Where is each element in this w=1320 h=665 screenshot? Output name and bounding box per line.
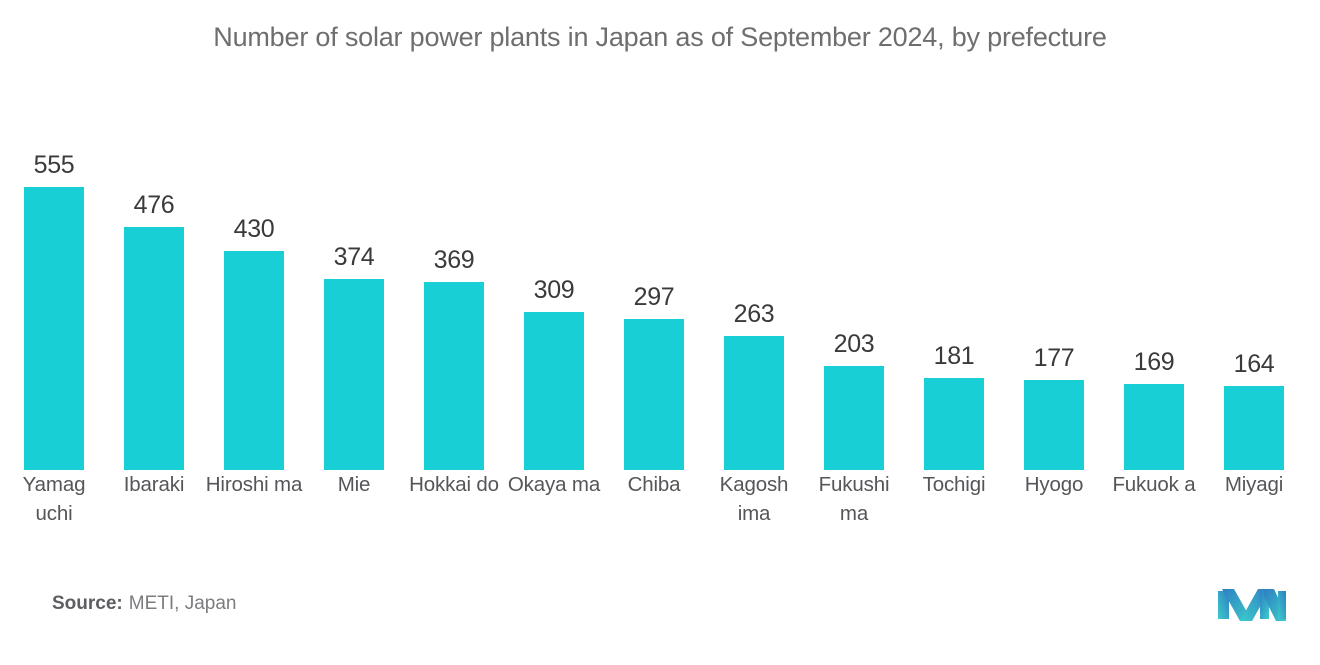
category-label: Miyagi [1202,470,1306,499]
category-label: Tochigi [902,470,1006,499]
bar-value-label: 164 [1234,352,1275,377]
category-label: Okaya ma [502,470,606,499]
bar-group: 374 [304,140,404,470]
bar-value-label: 555 [34,153,75,178]
category-axis: Yamag uchiIbarakiHiroshi maMieHokkai doO… [0,470,1320,540]
bar[interactable] [724,336,784,470]
bar-value-label: 476 [134,193,175,218]
bar-column: 169 [1124,140,1184,470]
bar-value-label: 203 [834,332,875,357]
bar[interactable] [824,366,884,470]
bar-value-label: 263 [734,302,775,327]
bar-column: 374 [324,140,384,470]
chart-figure: Number of solar power plants in Japan as… [0,0,1320,665]
source-label: Source: [52,593,123,614]
mordor-intelligence-logo [1216,585,1288,625]
bar-column: 309 [524,140,584,470]
bar-value-label: 181 [934,344,975,369]
bar-group: 181 [904,140,1004,470]
bar[interactable] [624,319,684,470]
source-line: Source:METI, Japan [52,593,236,615]
bar-column: 476 [124,140,184,470]
bar-group: 555 [4,140,104,470]
category-label: Hyogo [1002,470,1106,499]
bar[interactable] [424,282,484,470]
category-label: Hokkai do [402,470,506,499]
bar-group: 297 [604,140,704,470]
bar[interactable] [24,187,84,470]
bar-group: 164 [1204,140,1304,470]
bar-value-label: 309 [534,278,575,303]
bar[interactable] [324,279,384,470]
bar-column: 430 [224,140,284,470]
source-text: METI, Japan [129,593,237,614]
category-label: Mie [302,470,406,499]
bar[interactable] [524,312,584,470]
bar[interactable] [224,251,284,470]
bar-value-label: 369 [434,248,475,273]
bar-value-label: 430 [234,217,275,242]
category-label: Chiba [602,470,706,499]
chart-footer: Source:METI, Japan [0,575,1320,665]
category-label: Ibaraki [102,470,206,499]
bar-group: 309 [504,140,604,470]
bar-value-label: 374 [334,245,375,270]
bar-value-label: 297 [634,285,675,310]
bar-group: 430 [204,140,304,470]
bar[interactable] [1124,384,1184,470]
bar-value-label: 177 [1034,346,1075,371]
bar-column: 555 [24,140,84,470]
bar-group: 476 [104,140,204,470]
chart-title: Number of solar power plants in Japan as… [0,22,1320,53]
category-label: Fukushi ma [802,470,906,528]
bar[interactable] [924,378,984,470]
bar[interactable] [124,227,184,470]
bar-group: 177 [1004,140,1104,470]
category-label: Kagosh ima [702,470,806,528]
category-label: Hiroshi ma [202,470,306,499]
bar-column: 203 [824,140,884,470]
bar-value-label: 169 [1134,350,1175,375]
bar-column: 263 [724,140,784,470]
category-label: Yamag uchi [2,470,106,528]
bar[interactable] [1224,386,1284,470]
bar-group: 369 [404,140,504,470]
bar-column: 177 [1024,140,1084,470]
category-label: Fukuok a [1102,470,1206,499]
bar-group: 263 [704,140,804,470]
bar-column: 297 [624,140,684,470]
bar-column: 181 [924,140,984,470]
bar-group: 169 [1104,140,1204,470]
plot-area: 555476430374369309297263203181177169164 [0,140,1320,470]
bar-column: 164 [1224,140,1284,470]
bar[interactable] [1024,380,1084,470]
bar-column: 369 [424,140,484,470]
bar-group: 203 [804,140,904,470]
